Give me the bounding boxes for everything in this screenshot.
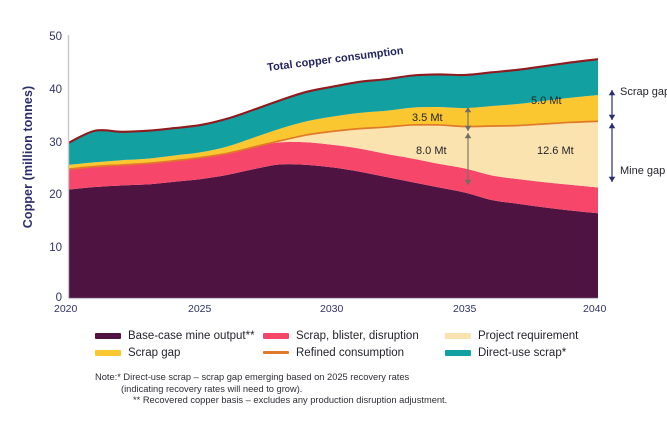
y-tick-10: 10 (32, 242, 62, 254)
legend-item-base-case-mine-output[interactable]: Base-case mine output** (95, 330, 263, 342)
area-series-group (69, 59, 599, 298)
x-tick-2025: 2025 (188, 303, 211, 315)
y-tick-30: 30 (32, 137, 62, 149)
legend-label-scrap-gap: Scrap gap (128, 347, 180, 359)
legend-item-direct-use-scrap[interactable]: Direct-use scrap* (445, 347, 625, 359)
legend-label-scrap-blister-disruption: Scrap, blister, disruption (296, 330, 419, 342)
value-label-5-0-mt: 5.0 Mt (531, 95, 562, 107)
legend-swatch-direct-use-scrap (445, 350, 471, 356)
legend-label-direct-use-scrap: Direct-use scrap* (478, 347, 566, 359)
legend-row-1: Base-case mine output** Scrap, blister, … (95, 327, 655, 344)
y-tick-20: 20 (32, 189, 62, 201)
legend-swatch-refined-consumption (263, 351, 289, 354)
legend-item-scrap-blister-disruption[interactable]: Scrap, blister, disruption (263, 330, 445, 342)
legend-swatch-project-requirement (445, 333, 471, 339)
legend-swatch-scrap-blister-disruption (263, 333, 289, 339)
bracket-label-mine-gap: Mine gap (620, 165, 665, 177)
value-label-8-0-mt: 8.0 Mt (416, 145, 447, 157)
y-tick-50: 50 (32, 31, 62, 43)
legend-swatch-scrap-gap (95, 350, 121, 356)
bracket-arrow-mine-gap (609, 123, 616, 182)
chart-plot-area: Copper (million tonnes) 50 40 30 20 10 0… (0, 0, 667, 320)
footnote-line-2: (indicating recovery rates will need to … (95, 384, 575, 396)
footnote-line-1: Note:* Direct-use scrap – scrap gap emer… (95, 372, 575, 384)
legend-item-refined-consumption[interactable]: Refined consumption (263, 347, 445, 359)
y-axis-title: Copper (million tonnes) (21, 47, 35, 267)
chart-legend: Base-case mine output** Scrap, blister, … (95, 327, 655, 361)
legend-label-project-requirement: Project requirement (478, 330, 578, 342)
legend-row-2: Scrap gap Refined consumption Direct-use… (95, 344, 655, 361)
stacked-area-svg (0, 0, 667, 320)
chart-footnotes: Note:* Direct-use scrap – scrap gap emer… (95, 372, 575, 407)
footnote-line-3: ** Recovered copper basis – excludes any… (95, 395, 575, 407)
legend-swatch-base-case-mine-output (95, 333, 121, 339)
legend-item-project-requirement[interactable]: Project requirement (445, 330, 625, 342)
value-label-3-5-mt: 3.5 Mt (412, 112, 443, 124)
legend-item-scrap-gap[interactable]: Scrap gap (95, 347, 263, 359)
legend-label-base-case-mine-output: Base-case mine output** (128, 330, 255, 342)
bracket-arrow-scrap-gap (609, 90, 616, 120)
x-tick-2035: 2035 (453, 303, 476, 315)
chart-root: Copper (million tonnes) 50 40 30 20 10 0… (0, 0, 667, 423)
x-tick-2040: 2040 (583, 303, 606, 315)
x-tick-2030: 2030 (320, 303, 343, 315)
bracket-label-scrap-gap: Scrap gap (620, 86, 667, 98)
legend-label-refined-consumption: Refined consumption (296, 347, 404, 359)
y-tick-40: 40 (32, 84, 62, 96)
value-label-12-6-mt: 12.6 Mt (537, 145, 574, 157)
x-tick-2020: 2020 (54, 303, 77, 315)
